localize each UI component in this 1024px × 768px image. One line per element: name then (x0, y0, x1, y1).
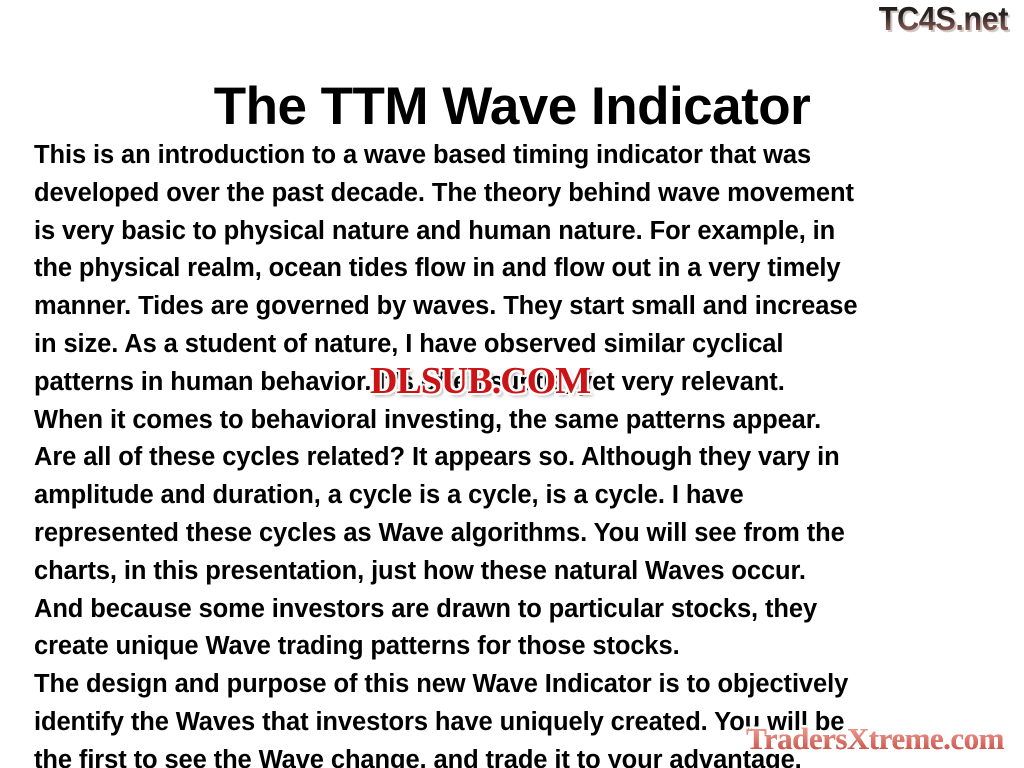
brand-logo-tradersxtreme: TradersXtreme.com (746, 722, 1004, 756)
body-line: When it comes to behavioral investing, t… (34, 402, 1002, 440)
body-line: Are all of these cycles related? It appe… (34, 439, 1002, 477)
brand-logo-tc4s: TC4S.net (879, 2, 1008, 35)
page-title: The TTM Wave Indicator (0, 76, 1024, 138)
watermark-dlsub: DLSUB.COM (370, 362, 590, 400)
presentation-slide: TC4S.net TC4S.net The TTM Wave Indicator… (0, 0, 1024, 768)
body-line: represented these cycles as Wave algorit… (34, 515, 1002, 553)
body-line: developed over the past decade. The theo… (34, 175, 1002, 213)
body-line: manner. Tides are governed by waves. The… (34, 288, 1002, 326)
body-line: charts, in this presentation, just how t… (34, 553, 1002, 591)
body-line: create unique Wave trading patterns for … (34, 628, 1002, 666)
body-line: is very basic to physical nature and hum… (34, 213, 1002, 251)
body-line: This is an introduction to a wave based … (34, 137, 1002, 175)
body-line: in size. As a student of nature, I have … (34, 326, 1002, 364)
body-line: And because some investors are drawn to … (34, 591, 1002, 629)
slide-body-text: This is an introduction to a wave based … (34, 137, 1002, 768)
body-line: amplitude and duration, a cycle is a cyc… (34, 477, 1002, 515)
body-line: The design and purpose of this new Wave … (34, 666, 1002, 704)
body-line: the physical realm, ocean tides flow in … (34, 250, 1002, 288)
